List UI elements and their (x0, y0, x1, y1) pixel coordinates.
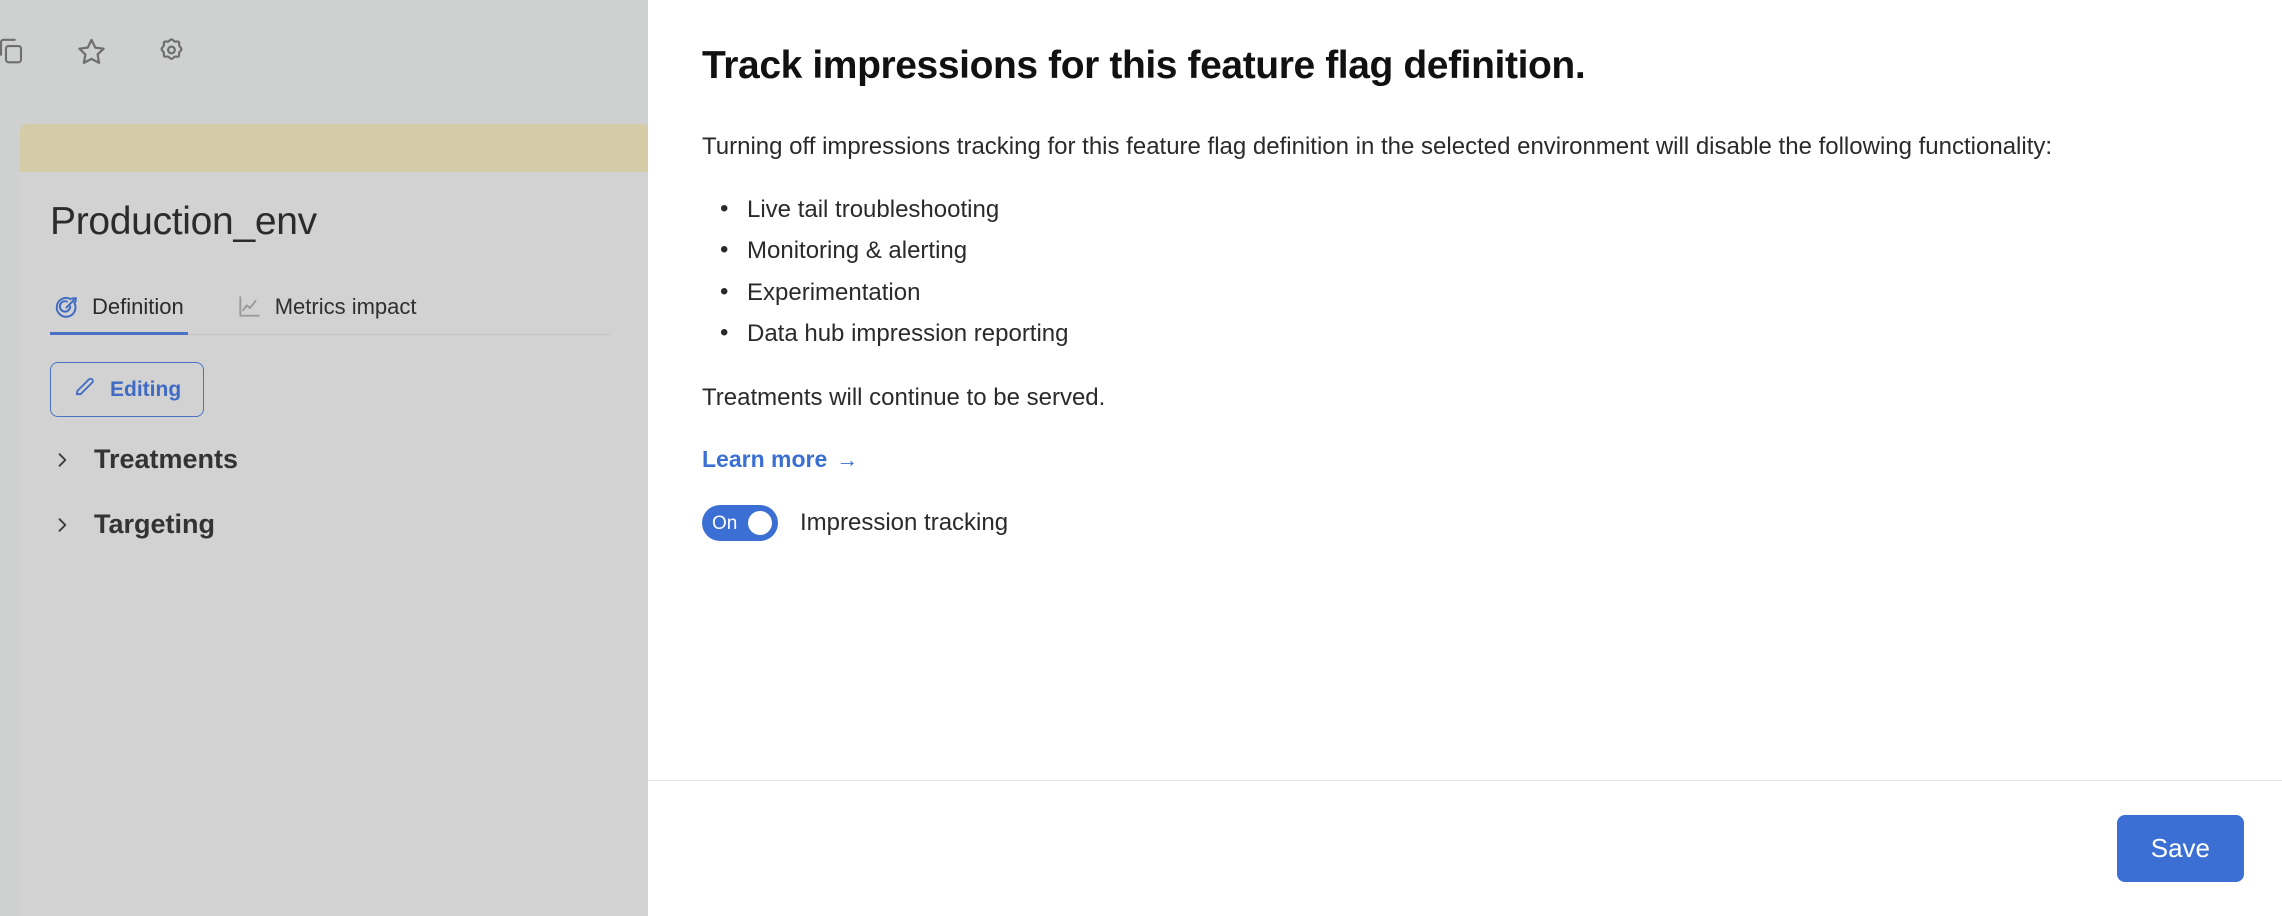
section-targeting[interactable]: Targeting (52, 509, 215, 540)
environment-card: Production_env Definition (20, 172, 650, 916)
learn-more-label: Learn more (702, 446, 827, 473)
drawer-content: Track impressions for this feature flag … (648, 0, 2282, 780)
impression-tracking-row: On Impression tracking (702, 505, 2228, 541)
disabled-functionality-list: Live tail troubleshooting Monitoring & a… (702, 189, 2228, 354)
target-pencil-icon (54, 295, 79, 320)
impression-tracking-toggle[interactable]: On (702, 505, 778, 541)
duplicate-icon[interactable] (0, 28, 34, 74)
top-toolbar (0, 28, 194, 74)
drawer-note: Treatments will continue to be served. (702, 384, 2228, 412)
learn-more-link[interactable]: Learn more → (702, 446, 858, 473)
gear-icon[interactable] (148, 28, 194, 74)
impression-tracking-label: Impression tracking (800, 509, 1008, 537)
drawer-title: Track impressions for this feature flag … (702, 44, 2228, 88)
chevron-right-icon (52, 450, 72, 470)
pencil-icon (73, 375, 96, 404)
tab-definition-label: Definition (92, 294, 184, 320)
section-targeting-label: Targeting (94, 509, 215, 540)
list-item: Monitoring & alerting (747, 230, 2228, 271)
page-title: Production_env (50, 200, 317, 244)
editing-button[interactable]: Editing (50, 362, 204, 417)
tab-metrics-impact[interactable]: Metrics impact (232, 294, 421, 334)
environment-banner (20, 124, 650, 172)
toggle-knob (748, 511, 772, 535)
star-icon[interactable] (68, 28, 114, 74)
line-chart-icon (236, 294, 262, 320)
chevron-right-icon (52, 515, 72, 535)
tab-bar: Definition Metrics impact (50, 294, 610, 335)
list-item: Data hub impression reporting (747, 313, 2228, 354)
list-item: Live tail troubleshooting (747, 189, 2228, 230)
arrow-right-icon: → (836, 447, 858, 473)
section-treatments[interactable]: Treatments (52, 444, 238, 475)
toggle-state-label: On (712, 514, 737, 533)
editing-button-label: Editing (110, 378, 181, 402)
tab-definition[interactable]: Definition (50, 294, 188, 334)
tab-metrics-impact-label: Metrics impact (275, 294, 417, 320)
section-treatments-label: Treatments (94, 444, 238, 475)
drawer-description: Turning off impressions tracking for thi… (702, 128, 2228, 165)
drawer-footer: Save (648, 780, 2282, 916)
save-button[interactable]: Save (2117, 815, 2244, 882)
impressions-drawer: Track impressions for this feature flag … (648, 0, 2282, 916)
list-item: Experimentation (747, 272, 2228, 313)
